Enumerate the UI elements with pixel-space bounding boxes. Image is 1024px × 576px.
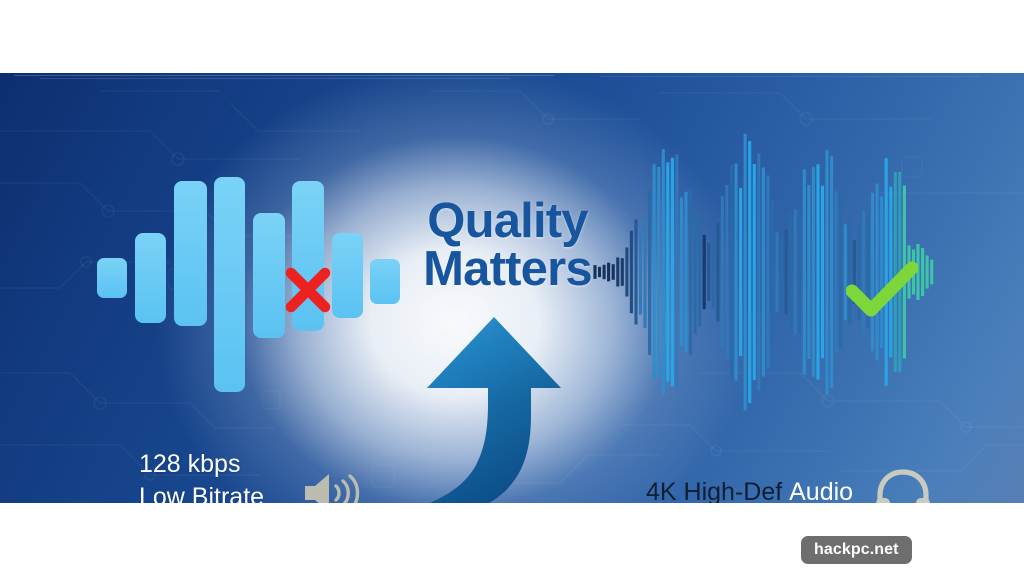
headset-microphone-icon bbox=[872, 467, 934, 503]
title-line-2: Matters bbox=[385, 245, 630, 293]
page-title: Quality Matters bbox=[385, 197, 630, 293]
high-def-caption-dark: 4K High-Def bbox=[646, 478, 782, 503]
speaker-volume-icon bbox=[303, 471, 361, 503]
high-def-caption-light: Audio bbox=[789, 478, 853, 503]
watermark-badge: hackpc.net bbox=[801, 536, 912, 564]
banner-image: Quality Matters 128 kbps Low Bitrate 4K … bbox=[0, 0, 1024, 576]
high-def-caption: 4K High-Def Audio bbox=[646, 480, 853, 503]
banner-background: Quality Matters 128 kbps Low Bitrate 4K … bbox=[0, 73, 1024, 503]
green-check-icon bbox=[846, 261, 918, 319]
watermark-label: hackpc.net bbox=[814, 541, 899, 559]
title-line-1: Quality bbox=[427, 194, 588, 248]
